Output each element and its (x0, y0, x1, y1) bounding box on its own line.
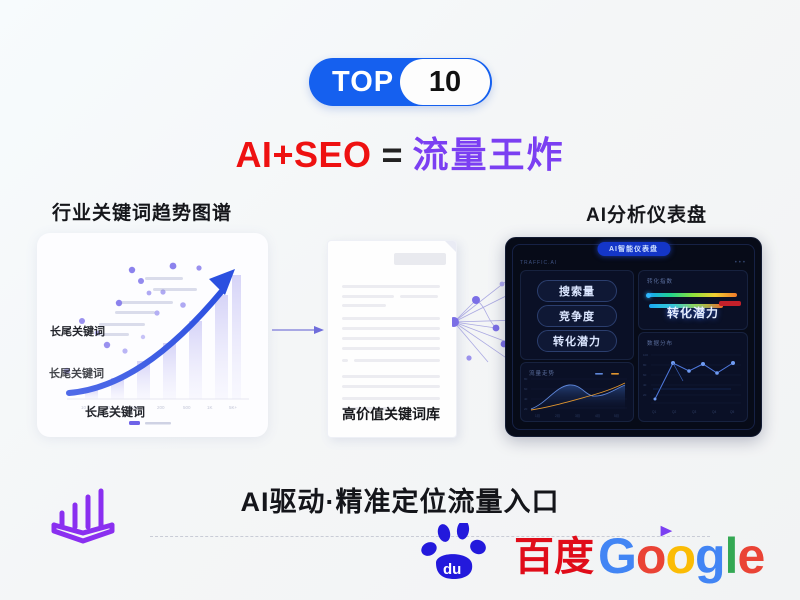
svg-text:Q5: Q5 (730, 410, 734, 414)
bar-chart-icon (46, 483, 120, 545)
dashboard-brand-label: TRAFFIC.AI (520, 260, 557, 266)
area-chart-graphic: 1月2月 3月4月 5月 8060 4020 (521, 363, 633, 421)
svg-text:60: 60 (643, 373, 647, 377)
top-number: 10 (429, 68, 461, 97)
svg-text:40: 40 (643, 383, 647, 387)
keyword-label-1: 长尾关键词 (50, 323, 105, 339)
svg-text:200: 200 (157, 405, 165, 410)
right-section-caption: AI分析仪表盘 (586, 200, 707, 227)
baidu-du-text: du (443, 561, 461, 578)
keyword-trend-card: 1050 100200 5001K 5K+ 长尾关键词 长尾关键词 长尾关键词 (37, 233, 268, 437)
svg-text:40: 40 (524, 397, 528, 401)
svg-text:20: 20 (524, 407, 528, 411)
metric-pill-competition[interactable]: 竞争度 (537, 305, 617, 327)
search-engine-logos: du 百度 Google (418, 523, 753, 585)
keyword-label-2: 长尾关键词 (49, 365, 104, 381)
svg-text:80: 80 (524, 377, 528, 381)
gauge-panel-title: 转化指数 (647, 277, 673, 285)
metric-pill-conversion[interactable]: 转化潜力 (537, 330, 617, 352)
dashboard-title-badge: AI智能仪表盘 (597, 242, 670, 256)
baidu-paw-icon: du (418, 523, 518, 585)
gauge-marker-icon (646, 293, 651, 298)
svg-text:5K+: 5K+ (229, 405, 238, 410)
svg-text:Q4: Q4 (712, 410, 716, 414)
keyword-label-3: 长尾关键词 (85, 403, 145, 420)
top-rank-badge: TOP 10 (309, 58, 492, 106)
dashboard-menu-icon[interactable]: ••• (735, 260, 747, 266)
distribution-line-chart-panel: 数据分布 10080 (638, 332, 748, 422)
metrics-panel: 搜索量 竞争度 转化潜力 (520, 270, 634, 360)
line-chart-graphic: 10080 6040 20 Q1Q2 Q3Q4 Q5 (639, 333, 747, 421)
svg-text:20: 20 (643, 393, 647, 397)
footer-tagline: AI驱动·精准定位流量入口 (0, 480, 800, 519)
svg-text:5月: 5月 (614, 414, 619, 418)
top-label: TOP (332, 68, 394, 97)
svg-text:3月: 3月 (575, 414, 580, 418)
flow-arrow-icon (272, 325, 324, 335)
doc-header-block (394, 253, 446, 265)
svg-text:2月: 2月 (555, 414, 560, 418)
svg-text:4月: 4月 (595, 414, 600, 418)
svg-text:Q1: Q1 (652, 410, 656, 414)
svg-text:Q3: Q3 (692, 410, 696, 414)
left-section-caption: 行业关键词趋势图谱 (52, 198, 232, 225)
svg-text:Q2: Q2 (672, 410, 676, 414)
svg-text:1K: 1K (207, 405, 213, 410)
svg-text:1月: 1月 (535, 414, 540, 418)
title-red: AI+SEO (235, 134, 371, 175)
metric-pill-search-volume[interactable]: 搜索量 (537, 280, 617, 302)
svg-text:60: 60 (524, 387, 528, 391)
poster-canvas: TOP 10 AI+SEO=流量王炸 行业关键词趋势图谱 AI分析仪表盘 (0, 0, 800, 600)
svg-text:100: 100 (643, 353, 648, 357)
document-caption: 高价值关键词库 (327, 404, 455, 424)
gauge-bar-primary (649, 293, 737, 297)
top-number-pill: 10 (400, 59, 490, 105)
gauge-overlay-label: 转化潜力 (639, 304, 747, 321)
baidu-wordmark: 百度 (514, 537, 594, 577)
google-wordmark: Google (598, 531, 764, 581)
ai-dashboard-panel: AI智能仪表盘 TRAFFIC.AI ••• 搜索量 竞争度 转化潜力 流量走势 (505, 237, 762, 437)
svg-text:80: 80 (643, 363, 647, 367)
page-title: AI+SEO=流量王炸 (0, 126, 800, 178)
play-triangle-icon (657, 523, 675, 541)
title-purple: 流量王炸 (413, 134, 565, 175)
svg-text:500: 500 (183, 405, 191, 410)
traffic-area-chart-panel: 流量走势 1月2月 (520, 362, 634, 422)
title-equals: = (382, 134, 403, 175)
conversion-gauge-panel: 转化指数 转化潜力 (638, 270, 748, 330)
